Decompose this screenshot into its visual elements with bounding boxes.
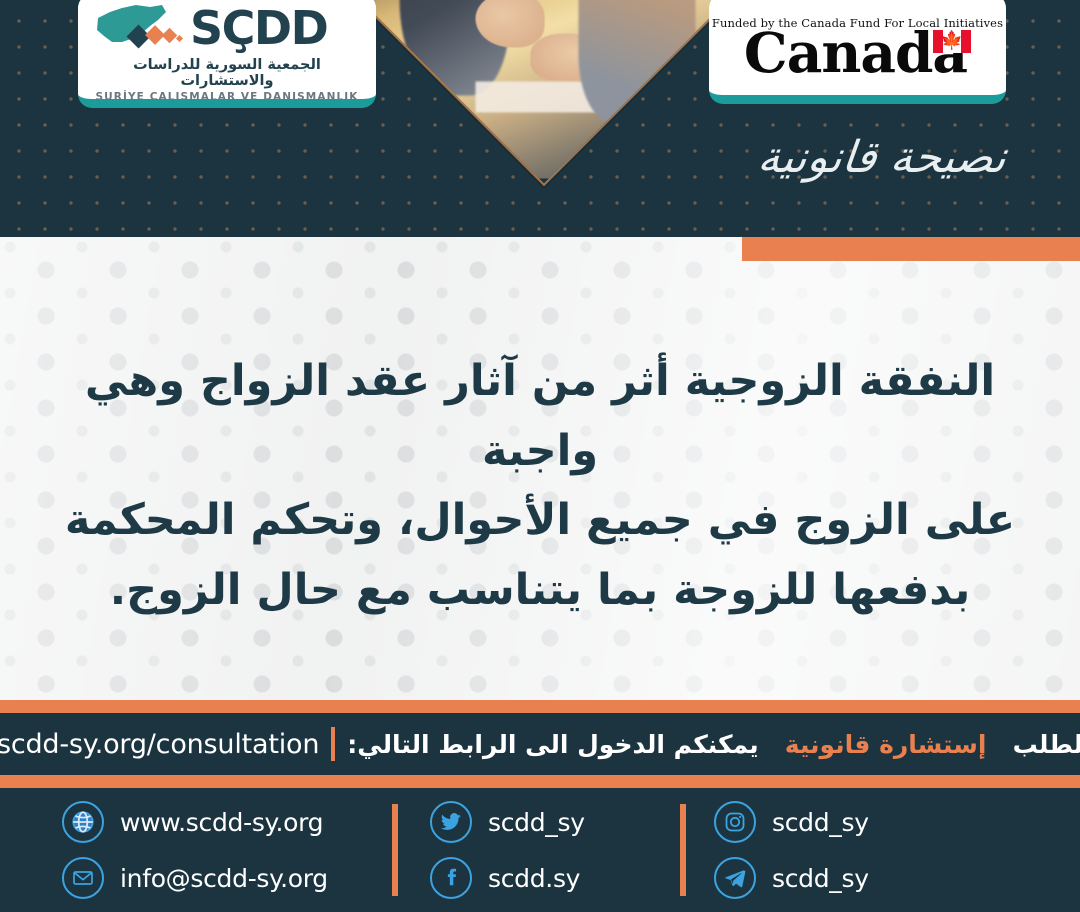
- instagram-icon: [714, 801, 756, 843]
- main-content-area: النفقة الزوجية أثر من آثار عقد الزواج وه…: [0, 237, 1080, 700]
- main-advice-line: بدفعها للزوجة بما يتناسب مع حال الزوج.: [50, 556, 1030, 626]
- orange-accent-bar: [742, 237, 1080, 261]
- globe-icon: [62, 801, 104, 843]
- main-advice-line: النفقة الزوجية أثر من آثار عقد الزواج وه…: [50, 347, 1030, 486]
- facebook-icon: [430, 857, 472, 899]
- header-banner: SÇDD الجمعية السورية للدراسات والاستشارا…: [0, 0, 1080, 237]
- twitter-handle: scdd_sy: [488, 808, 585, 837]
- poster-root: SÇDD الجمعية السورية للدراسات والاستشارا…: [0, 0, 1080, 912]
- email-text: info@scdd-sy.org: [120, 864, 328, 893]
- list-item[interactable]: scdd_sy: [430, 801, 680, 843]
- list-item[interactable]: scdd_sy: [714, 857, 1014, 899]
- scdd-logo-card: SÇDD الجمعية السورية للدراسات والاستشارا…: [78, 0, 376, 108]
- list-item[interactable]: www.scdd-sy.org: [62, 801, 392, 843]
- consultation-prefix: لطلب: [1013, 730, 1080, 759]
- footer-divider: [680, 804, 686, 896]
- consultation-url[interactable]: scdd-sy.org/consultation: [0, 729, 319, 760]
- page-title: نصيحة قانونية: [755, 132, 1009, 183]
- footer-column-web: www.scdd-sy.org info@scdd-sy.org: [62, 801, 392, 899]
- consultation-suffix: يمكنكم الدخول الى الرابط التالي:: [347, 730, 758, 759]
- footer-column-social-2: scdd_sy scdd_sy: [714, 801, 1014, 899]
- list-item[interactable]: info@scdd-sy.org: [62, 857, 392, 899]
- website-text: www.scdd-sy.org: [120, 808, 323, 837]
- consultation-band: لطلب إستشارة قانونية يمكنكم الدخول الى ا…: [0, 713, 1080, 775]
- scdd-turkish-name: SURİYE ÇALIŞMALAR VE DANIŞMANLIK DERNEĞİ: [88, 91, 366, 108]
- footer-column-social-1: scdd_sy scdd.sy: [430, 801, 680, 899]
- canada-logo-card: Funded by the Canada Fund For Local Init…: [709, 0, 1006, 104]
- facebook-handle: scdd.sy: [488, 864, 580, 893]
- canada-flag-icon: 🍁: [933, 30, 971, 53]
- scdd-arabic-name: الجمعية السورية للدراسات والاستشارات: [88, 57, 366, 89]
- telegram-handle: scdd_sy: [772, 864, 869, 893]
- list-item[interactable]: scdd_sy: [714, 801, 1014, 843]
- twitter-icon: [430, 801, 472, 843]
- orange-divider-bottom: [0, 775, 1080, 788]
- list-item[interactable]: scdd.sy: [430, 857, 680, 899]
- main-advice-line: على الزوج في جميع الأحوال، وتحكم المحكمة: [50, 486, 1030, 556]
- photo-paper: [475, 82, 613, 113]
- scdd-logo-top: SÇDD: [88, 0, 366, 56]
- instagram-handle: scdd_sy: [772, 808, 869, 837]
- photo-hand-left: [475, 0, 544, 47]
- scdd-wordmark: SÇDD: [190, 5, 327, 51]
- footer-divider: [392, 804, 398, 896]
- footer-contact-bar: www.scdd-sy.org info@scdd-sy.org: [0, 788, 1080, 912]
- orange-divider-top: [0, 700, 1080, 713]
- envelope-icon: [62, 857, 104, 899]
- photo-hand-right: [530, 34, 606, 82]
- telegram-icon: [714, 857, 756, 899]
- consultation-highlight: إستشارة قانونية: [785, 730, 987, 759]
- consultation-text: لطلب إستشارة قانونية يمكنكم الدخول الى ا…: [347, 730, 1080, 759]
- syria-map-icon: [92, 2, 184, 54]
- consultation-divider: [331, 727, 335, 761]
- main-advice-text: النفقة الزوجية أثر من آثار عقد الزواج وه…: [50, 347, 1030, 626]
